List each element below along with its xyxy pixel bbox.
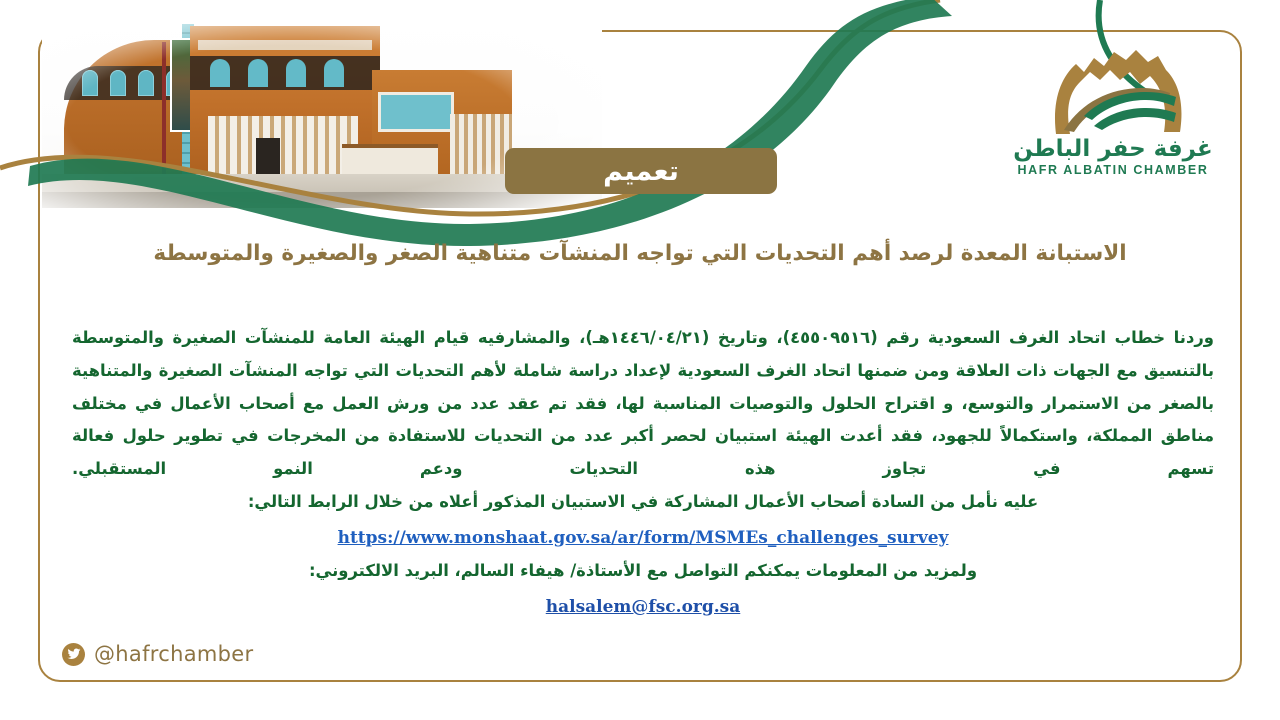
- poster-canvas: غرفة حفر الباطن HAFR ALBATIN CHAMBER تعم…: [0, 0, 1280, 720]
- paragraph-2: عليه نأمل من السادة أصحاب الأعمال المشار…: [72, 486, 1214, 519]
- survey-link-row: https://www.monshaat.gov.sa/ar/form/MSME…: [72, 521, 1214, 555]
- circular-badge: تعميم: [505, 148, 777, 194]
- paragraph-1: وردنا خطاب اتحاد الغرف السعودية رقم (٤٥٥…: [72, 322, 1214, 486]
- logo-arabic-name: غرفة حفر الباطن: [1008, 136, 1218, 162]
- contact-line: ولمزيد من المعلومات يمكنكم التواصل مع ال…: [72, 555, 1214, 588]
- chamber-logo: غرفة حفر الباطن HAFR ALBATIN CHAMBER: [1008, 42, 1218, 192]
- chamber-arch-icon: [1038, 42, 1188, 138]
- email-link-row: halsalem@fsc.org.sa: [72, 590, 1214, 624]
- logo-english-name: HAFR ALBATIN CHAMBER: [1008, 163, 1218, 177]
- social-handle[interactable]: @hafrchamber: [62, 642, 253, 666]
- body-content: وردنا خطاب اتحاد الغرف السعودية رقم (٤٥٥…: [72, 322, 1214, 624]
- twitter-bird-glyph: [67, 648, 81, 660]
- survey-link[interactable]: https://www.monshaat.gov.sa/ar/form/MSME…: [338, 521, 949, 555]
- contact-email-link[interactable]: halsalem@fsc.org.sa: [546, 590, 741, 624]
- page-title: الاستبانة المعدة لرصد أهم التحديات التي …: [70, 238, 1210, 269]
- twitter-bird-icon[interactable]: [62, 643, 85, 666]
- logo-hill-green-2: [1094, 108, 1176, 130]
- twitter-handle-text: @hafrchamber: [94, 642, 253, 666]
